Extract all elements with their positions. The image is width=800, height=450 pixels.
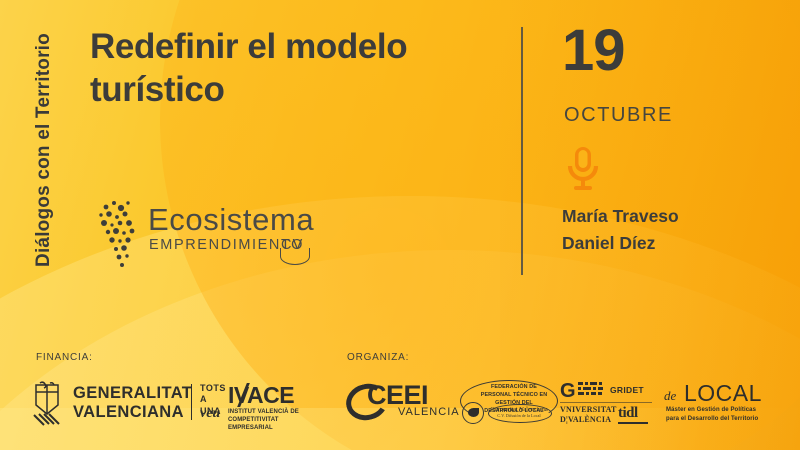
federacion-globe-icon — [462, 402, 484, 424]
delocal-wordmark: LOCAL — [684, 380, 762, 407]
delocal-sub-line2: para el Desarrollo del Territorio — [666, 415, 784, 424]
gridet-rule — [560, 402, 652, 403]
tidl-wordmark: tidl — [618, 405, 638, 422]
tagline-line3: veu — [200, 406, 220, 422]
financia-label: FINANCIA: — [36, 352, 93, 363]
logo-gridet-universitat-valencia: G GRIDET VNIVERSITAT D¦VALÈNCIA tidl — [560, 380, 652, 424]
generalitat-line1: GENERALITAT — [73, 384, 192, 403]
logo-delocal: de LOCAL Máster en Gestión de Políticas … — [664, 380, 784, 424]
gridet-pixel-icon — [578, 382, 606, 400]
ecosistema-wordmark: Ecosistema — [148, 202, 314, 238]
generalitat-separator — [191, 384, 192, 420]
ecosistema-logo: Ecosistema EMPRENDIMIENTO CV — [95, 196, 310, 276]
delocal-prefix: de — [664, 388, 676, 404]
federacion-badge: Comunitat Valenciana C.V. Difusión de la… — [490, 406, 548, 419]
federacion-badge-subtext: C.V. Difusión de la Local — [490, 414, 548, 419]
ivace-sub-line1: INSTITUT VALENCIÀ DE — [228, 408, 324, 416]
event-poster: Diálogos con el Territorio Redefinir el … — [0, 0, 800, 450]
federacion-badge-text: Comunitat Valenciana — [490, 406, 547, 413]
ecosistema-smile-icon — [280, 248, 310, 265]
tidl-underline — [618, 422, 648, 424]
federacion-line2: PERSONAL TÉCNICO EN — [476, 391, 552, 399]
uv-line1: VNIVERSITAT — [560, 405, 617, 415]
delocal-subtitle: Máster en Gestión de Políticas para el D… — [666, 406, 784, 424]
logo-generalitat-valenciana: GENERALITAT VALENCIANA TOTS A UNA veu — [28, 380, 213, 426]
vertical-divider — [521, 27, 523, 275]
series-label: Diálogos con el Territorio — [24, 0, 64, 300]
federacion-line1: FEDERACIÓN DE — [476, 383, 552, 391]
ceei-subtitle: VALENCIA — [398, 406, 460, 418]
ecosistema-dots-icon — [95, 198, 145, 274]
event-month: OCTUBRE — [564, 104, 673, 127]
page-title: Redefinir el modelo turístico — [90, 26, 510, 111]
delocal-sub-line1: Máster en Gestión de Políticas — [666, 406, 784, 415]
speakers-list: María Traveso Daniel Díez — [562, 203, 679, 257]
logo-federacion-personal-tecnico: FEDERACIÓN DE PERSONAL TÉCNICO EN GESTIÓ… — [458, 378, 558, 424]
organiza-label: ORGANIZA: — [347, 352, 409, 363]
uv-line2: D¦VALÈNCIA — [560, 415, 617, 425]
universitat-valencia-wordmark: VNIVERSITAT D¦VALÈNCIA — [560, 405, 617, 425]
speaker-name: María Traveso — [562, 203, 679, 230]
tagline-line1: TOTS — [200, 383, 226, 394]
event-day: 19 — [562, 22, 625, 80]
gridet-wordmark: GRIDET — [610, 385, 644, 395]
ivace-sub-line2: COMPETITIVITAT EMPRESARIAL — [228, 416, 324, 432]
ivace-subtitle: INSTITUT VALENCIÀ DE COMPETITIVITAT EMPR… — [228, 408, 324, 432]
generalitat-shield-icon — [28, 381, 68, 427]
gridet-g-mark: G — [560, 380, 575, 403]
microphone-icon — [563, 145, 603, 195]
generalitat-wordmark: GENERALITAT VALENCIANA — [73, 384, 192, 423]
series-label-text: Diálogos con el Territorio — [33, 33, 55, 267]
speaker-name: Daniel Díez — [562, 230, 679, 257]
logo-ceei-valencia: CEEI VALENCIA — [346, 380, 456, 424]
logo-ivace: IVACE INSTITUT VALENCIÀ DE COMPETITIVITA… — [228, 382, 324, 424]
generalitat-line2: VALENCIANA — [73, 403, 192, 422]
